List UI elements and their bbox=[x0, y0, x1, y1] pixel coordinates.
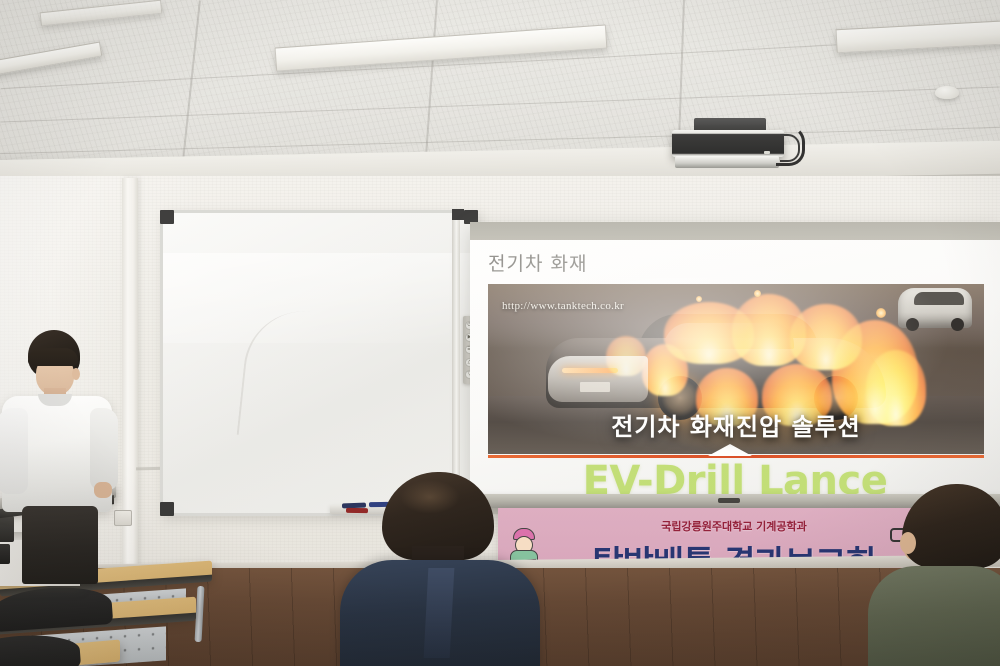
audience-navy-suit bbox=[340, 472, 540, 666]
photo-background-car-window bbox=[914, 292, 964, 305]
projection-screen-pull-handle[interactable] bbox=[718, 498, 740, 503]
presenter-right-arm bbox=[90, 408, 118, 490]
presenter bbox=[8, 330, 118, 580]
smoke-detector bbox=[935, 86, 959, 99]
audience-ear bbox=[900, 532, 916, 554]
second-board-edge bbox=[452, 212, 460, 512]
ember bbox=[876, 308, 886, 318]
presenter-ear bbox=[72, 368, 80, 380]
photo-caption: 전기차 화재진압 솔루션 bbox=[488, 407, 984, 442]
audience-hair bbox=[902, 484, 1000, 568]
whiteboard-corner bbox=[160, 210, 174, 224]
flame bbox=[642, 344, 688, 396]
whiteboard[interactable] bbox=[160, 210, 478, 516]
presenter-hand bbox=[94, 482, 112, 498]
slide-photo-burning-car: http://www.tanktech.co.kr 전기차 화재진압 솔루션 bbox=[488, 284, 984, 454]
classroom-scene: ⏻ ▶ ☰ △ ▽ 전기차 화재 bbox=[0, 0, 1000, 666]
ceiling-projector bbox=[672, 128, 790, 178]
slide-divider-notch-icon bbox=[708, 444, 752, 456]
projector-body bbox=[672, 130, 784, 157]
background-car-wheel bbox=[951, 318, 964, 331]
projector-lens-bar bbox=[675, 156, 779, 168]
whiteboard-erase-marks bbox=[237, 305, 402, 450]
presenter-left-arm bbox=[0, 408, 28, 494]
photo-main-car bbox=[546, 314, 886, 422]
car-license-plate bbox=[580, 382, 610, 392]
projector-led-icon bbox=[764, 151, 770, 154]
presenter-trousers bbox=[22, 506, 98, 584]
audience-olive-top bbox=[868, 566, 1000, 666]
photo-watermark-url: http://www.tanktech.co.kr bbox=[502, 300, 624, 312]
projector-cable-secondary bbox=[780, 134, 800, 162]
slide-title: 전기차 화재 bbox=[488, 249, 587, 276]
presenter-fringe bbox=[28, 348, 78, 366]
ember bbox=[696, 296, 702, 302]
audience-jacket-lapel bbox=[424, 568, 455, 658]
projected-slide: 전기차 화재 bbox=[470, 240, 1000, 498]
whiteboard-corner bbox=[160, 502, 174, 516]
audience-olive-shirt bbox=[858, 484, 1000, 666]
flame bbox=[606, 336, 646, 376]
audience-hair-highlight bbox=[400, 480, 460, 514]
background-car-wheel bbox=[906, 318, 919, 331]
ember bbox=[754, 290, 761, 297]
second-board-corner bbox=[452, 209, 464, 220]
